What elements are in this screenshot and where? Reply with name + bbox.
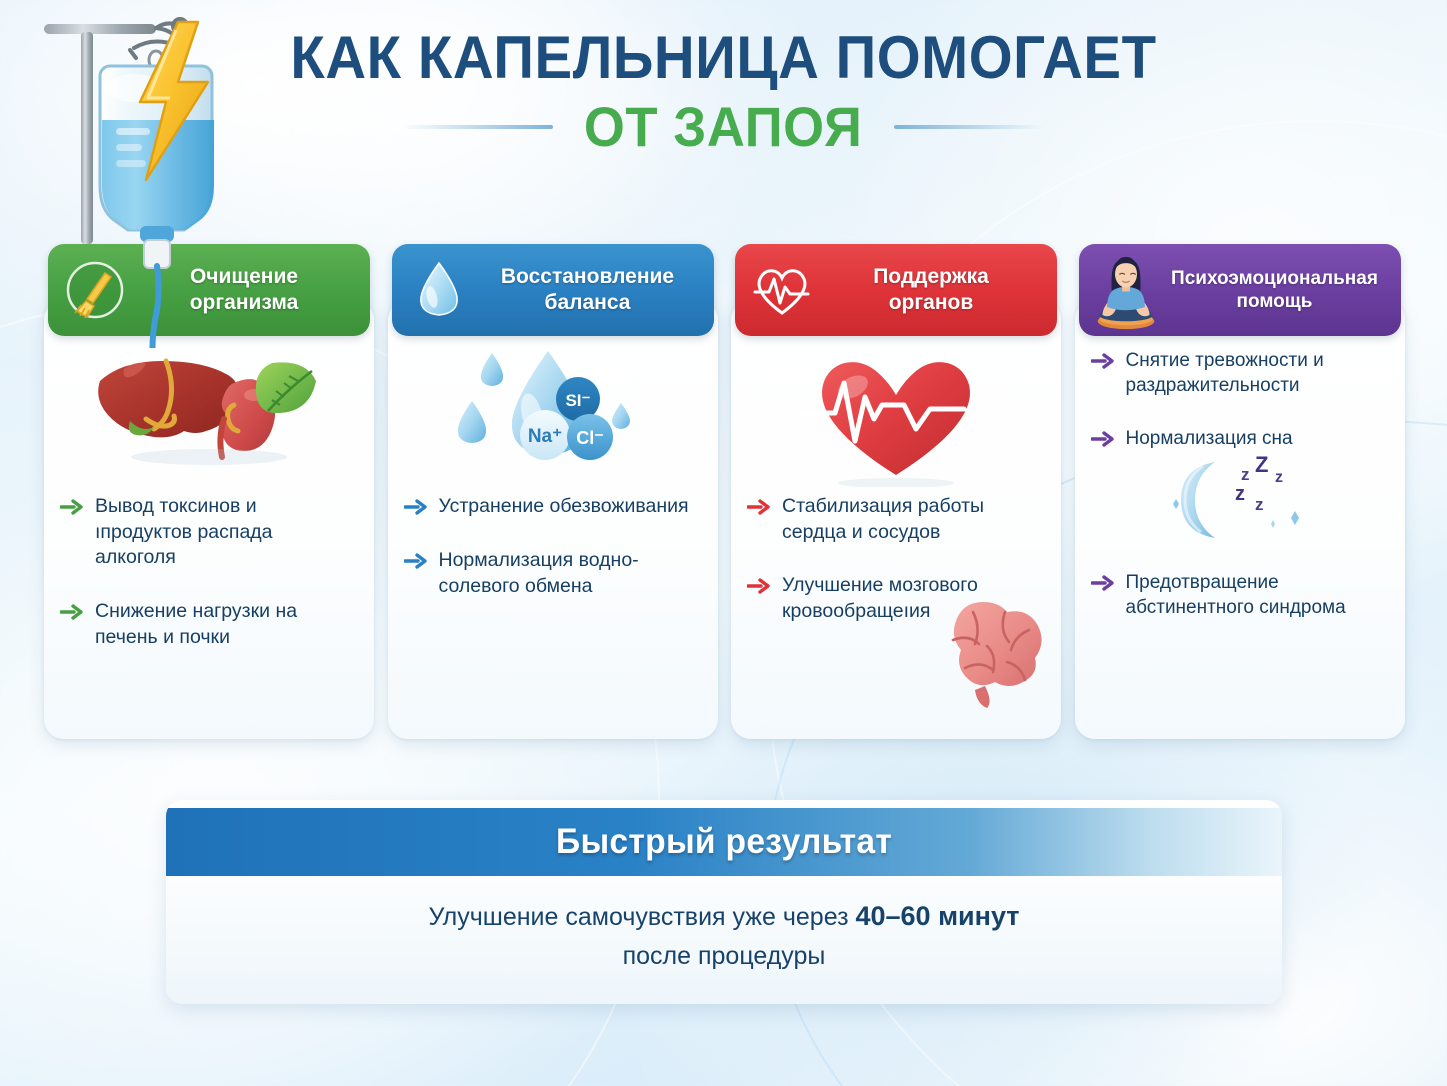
page-subtitle: ОТ ЗАПОЯ — [584, 99, 862, 155]
bullet-text: Нормализация сна — [1126, 426, 1293, 451]
banner-line-1: Улучшение самочувствия уже через 40–60 м… — [286, 896, 1162, 938]
list-item: Стабилизация работы сердца и сосудов — [747, 494, 1043, 545]
svg-text:Na⁺: Na⁺ — [527, 426, 561, 447]
card-header-title: Восстановление баланса — [472, 264, 702, 315]
bullet-text: Вывод токсинов и ıпродуктов распада алко… — [95, 494, 356, 571]
bullet-text: Снятие тревожности и раздражительности — [1126, 348, 1387, 398]
svg-text:Cl⁻: Cl⁻ — [576, 428, 604, 448]
meditating-woman-icon — [1093, 257, 1159, 323]
card-psychoemotional[interactable]: Психоэмоциональная помощь Снятие тревожн… — [1075, 244, 1405, 739]
card-bullets: Вывод токсинов и ıпродуктов распада алко… — [44, 494, 374, 679]
arrow-right-icon — [1091, 575, 1115, 596]
bullet-text: Предотвращение абстинентного синдрома — [1126, 570, 1387, 620]
card-bullets: Стабилизация работы сердца и сосудов Улу… — [731, 494, 1061, 653]
crescent-moon-zzz-illustration: z Z z z z — [1091, 452, 1387, 548]
bullet-text: Снижение нагрузки на печень и почки — [95, 599, 356, 650]
banner-title: Быстрый результат — [556, 822, 892, 862]
svg-text:z: z — [1275, 469, 1283, 486]
bullet-text: Стабилизация работы сердца и сосудов — [782, 494, 1043, 545]
banner-line1-prefix: Улучшение самочувствия уже через — [428, 903, 855, 931]
divider-left — [403, 125, 553, 129]
arrow-right-icon — [404, 499, 428, 520]
svg-text:z: z — [1235, 483, 1245, 505]
svg-text:z: z — [1241, 465, 1250, 484]
arrow-right-icon — [1091, 353, 1115, 374]
card-organs[interactable]: Поддержка органов — [731, 244, 1061, 739]
list-item: Устранение обезвоживания — [404, 494, 700, 520]
liver-kidney-leaf-illustration — [44, 340, 374, 490]
list-item: Вывод токсинов и ıпродуктов распада алко… — [60, 494, 356, 571]
banner-title-strip: Быстрый результат — [166, 808, 1282, 876]
card-bullets: Снятие тревожности и раздражительности Н… — [1075, 348, 1405, 648]
card-balance[interactable]: Восстановление баланса — [388, 244, 718, 739]
svg-text:Z: Z — [1255, 452, 1268, 477]
bullet-text: Устранение обезвоживания — [439, 494, 689, 520]
arrow-right-icon — [404, 553, 428, 574]
divider-right — [894, 125, 1044, 129]
svg-text:SI⁻: SI⁻ — [565, 391, 590, 410]
bullet-text: Улучшение мозгового кровообращеıия — [782, 573, 1043, 624]
electrolyte-droplets-illustration: SI⁻ Na⁺ Cl⁻ — [388, 340, 718, 490]
list-item: Снятие тревожности и раздражительности — [1091, 348, 1387, 398]
svg-text:z: z — [1255, 495, 1264, 514]
list-item: Улучшение мозгового кровообращеıия — [747, 573, 1043, 624]
list-item: Предотвращение абстинентного синдрома — [1091, 570, 1387, 620]
heart-with-ecg-illustration — [731, 340, 1061, 490]
list-item: Нормализация сна — [1091, 426, 1387, 452]
arrow-right-icon — [60, 499, 84, 520]
lightning-bolt-icon — [122, 16, 222, 191]
banner-line-2: после процедуры — [286, 938, 1162, 976]
arrow-right-icon — [1091, 431, 1115, 452]
arrow-right-icon — [747, 499, 771, 520]
banner-duration-highlight: 40–60 минут — [855, 901, 1019, 931]
banner-body: Улучшение самочувствия уже через 40–60 м… — [166, 896, 1282, 975]
list-item: Снижение нагрузки на печень и почки — [60, 599, 356, 650]
arrow-right-icon — [60, 604, 84, 625]
water-drop-icon — [406, 257, 472, 323]
card-header-title: Психоэмоциональная помощь — [1159, 267, 1389, 313]
list-item: Нормализация водно-солевого обмена — [404, 548, 700, 599]
card-header-psychoemotional: Психоэмоциональная помощь — [1079, 244, 1401, 336]
card-header-organs: Поддержка органов — [735, 244, 1057, 336]
fast-result-banner: Быстрый результат Улучшение самочувствия… — [166, 800, 1282, 1004]
card-header-balance: Восстановление баланса — [392, 244, 714, 336]
heart-pulse-outline-icon — [749, 257, 815, 323]
arrow-right-icon — [747, 578, 771, 599]
bullet-text: Нормализация водно-солевого обмена — [439, 548, 700, 599]
card-header-title: Поддержка органов — [815, 264, 1045, 315]
card-bullets: Устранение обезвоживания Нормализация во… — [388, 494, 718, 627]
